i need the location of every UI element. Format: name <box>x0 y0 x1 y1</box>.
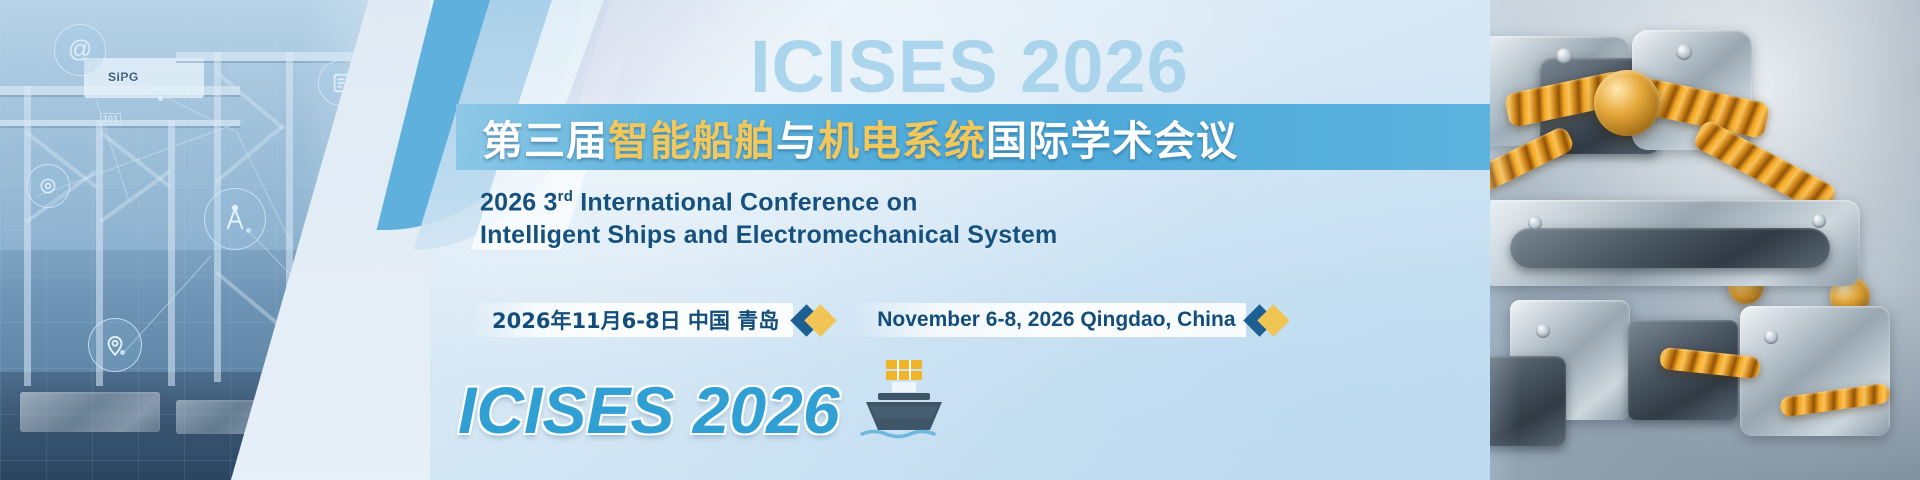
machine-housing <box>1740 306 1890 436</box>
date-location-en: November 6-8, 2026 Qingdao, China <box>851 303 1245 337</box>
ordinal-suffix: rd <box>558 188 573 205</box>
target-network-icon <box>26 164 70 208</box>
english-line1-pre: 2026 3 <box>480 188 558 216</box>
bolt <box>1528 216 1542 230</box>
chinese-title: 第三届 智能船舶 与 机电系统 国际学术会议 <box>482 106 1238 168</box>
bolt <box>1812 214 1826 228</box>
bolt <box>1556 48 1572 64</box>
banner-center-panel: ICISES 2026 第三届 智能船舶 与 机电系统 国际学术会议 2026 … <box>430 0 1490 480</box>
network-dot <box>158 96 163 101</box>
signal-tower-icon <box>204 188 266 250</box>
at-sign-icon: @ <box>54 24 106 76</box>
english-subtitle-line2: Intelligent Ships and Electromechanical … <box>480 219 1057 252</box>
chinese-title-seg-4: 机电系统 <box>818 107 986 167</box>
english-subtitle-line1: 2026 3rd International Conference on <box>480 180 1057 219</box>
diamond-separator-2 <box>1246 300 1304 340</box>
bolt <box>1764 330 1778 344</box>
machine-shaft <box>1510 228 1830 268</box>
bearing-ring <box>1594 70 1660 136</box>
logo-text: ICISES 2026 <box>458 372 840 448</box>
chinese-title-seg-3: 与 <box>776 107 818 167</box>
ship-icon <box>856 348 952 444</box>
date-location-cn: 2026年11月6-8日 中国 青岛 <box>470 303 793 337</box>
chinese-title-seg-5: 国际学术会议 <box>986 107 1238 167</box>
bolt <box>1676 44 1692 60</box>
chinese-title-seg-2: 智能船舶 <box>608 107 776 167</box>
conference-logo: ICISES 2026 <box>458 348 952 448</box>
location-pin-icon <box>88 318 142 372</box>
english-line1-post: International Conference on <box>573 188 918 216</box>
watermark-title: ICISES 2026 <box>750 24 1189 109</box>
chinese-title-seg-1: 第三届 <box>482 107 608 167</box>
english-subtitle: 2026 3rd International Conference on Int… <box>480 180 1057 252</box>
conference-banner: SIPG 101 @ <box>0 0 1920 480</box>
bolt <box>1536 324 1550 338</box>
date-location-row: 2026年11月6-8日 中国 青岛 November 6-8, 2026 Qi… <box>470 300 1304 340</box>
diamond-separator-1 <box>793 300 851 340</box>
